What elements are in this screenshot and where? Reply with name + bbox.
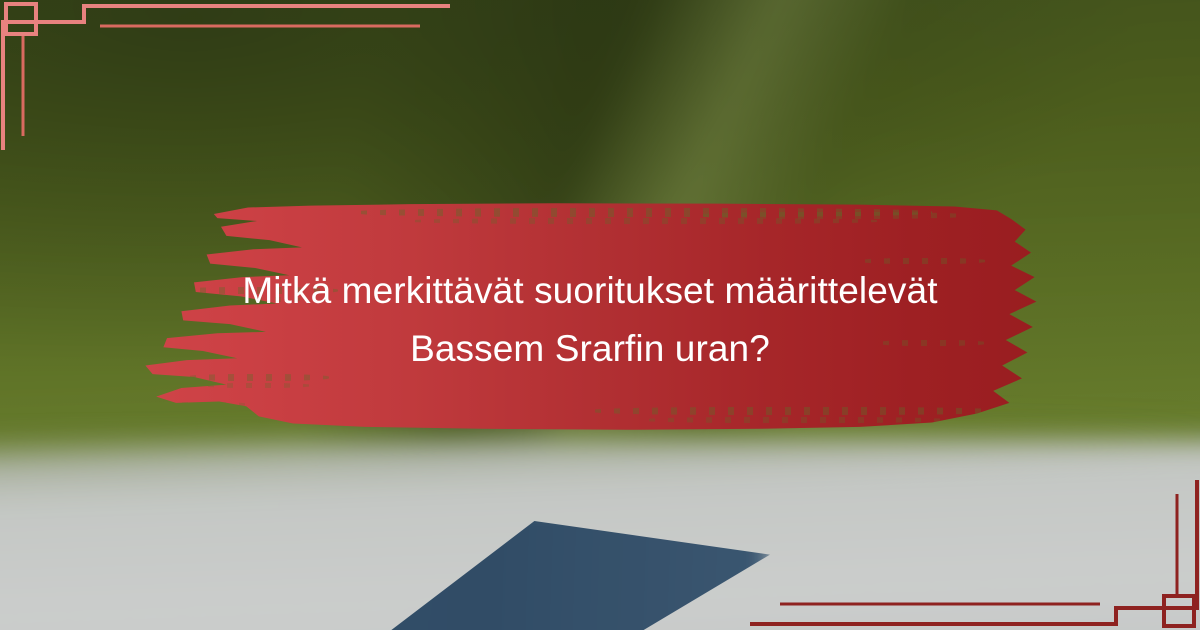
- brush-streak: [203, 383, 311, 388]
- page-title: Mitkä merkittävät suoritukset määrittele…: [150, 262, 1030, 378]
- brush-streak: [644, 417, 950, 423]
- social-card: Mitkä merkittävät suoritukset määrittele…: [0, 0, 1200, 630]
- brush-streak: [158, 402, 248, 407]
- brush-streak: [698, 212, 968, 219]
- brush-streak: [590, 407, 1004, 415]
